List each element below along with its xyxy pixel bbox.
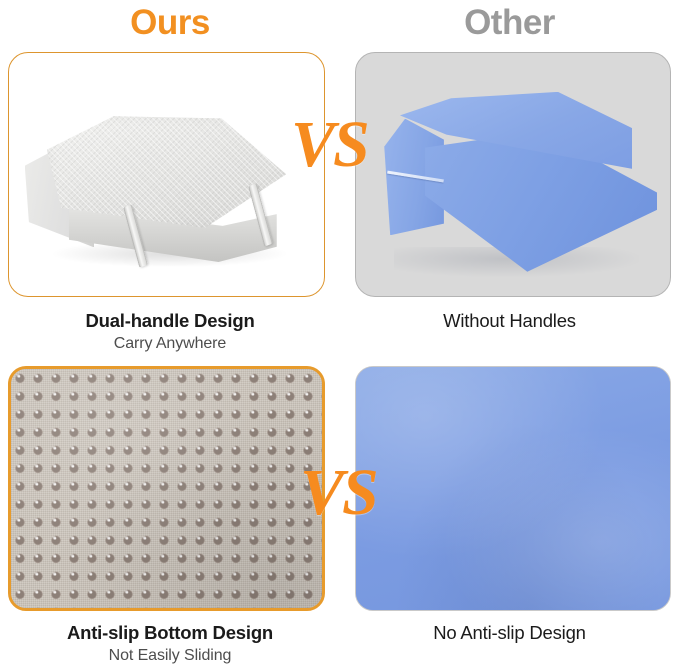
caption-subtitle: Carry Anywhere <box>0 335 340 353</box>
column-header-ours: Ours <box>0 0 340 46</box>
grey-wedge-pillow-illustration <box>9 53 324 296</box>
caption-ours-bottom: Anti-slip Bottom Design Not Easily Slidi… <box>0 622 340 665</box>
caption-other-top: Without Handles <box>340 310 679 332</box>
blue-wedge-pillow-illustration <box>356 53 670 296</box>
antislip-lighting-overlay <box>11 369 322 608</box>
ours-product-image-panel-top <box>8 52 325 297</box>
caption-ours-top: Dual-handle Design Carry Anywhere <box>0 310 340 353</box>
caption-other-bottom: No Anti-slip Design <box>340 622 679 644</box>
caption-title: No Anti-slip Design <box>340 622 679 644</box>
other-product-image-panel-top <box>355 52 671 297</box>
vs-divider-top: VS <box>291 112 368 178</box>
other-product-image-panel-bottom <box>355 366 671 611</box>
column-header-other: Other <box>340 0 679 46</box>
caption-title: Anti-slip Bottom Design <box>0 622 340 644</box>
caption-title: Dual-handle Design <box>0 310 340 332</box>
caption-title: Without Handles <box>340 310 679 332</box>
caption-subtitle: Not Easily Sliding <box>0 647 340 665</box>
vs-divider-bottom: VS <box>300 460 377 526</box>
plain-blue-fabric-surface <box>356 367 670 610</box>
ours-product-image-panel-bottom <box>8 366 325 611</box>
